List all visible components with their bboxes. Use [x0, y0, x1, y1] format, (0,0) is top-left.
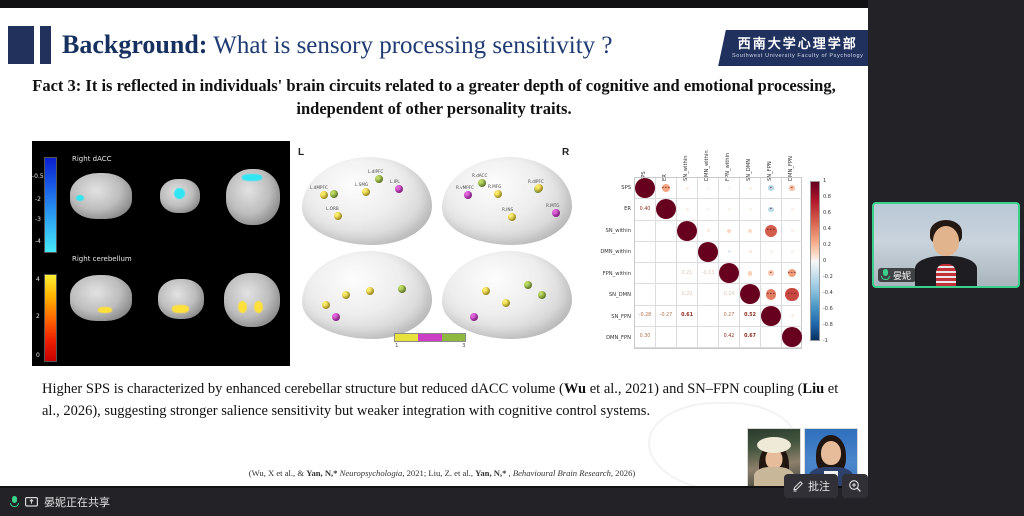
slide-title-bold: Background:: [62, 30, 207, 59]
colorbar-tick: 0: [823, 258, 826, 264]
colorbar-pos-tick-1: 2: [36, 313, 40, 320]
matrix-cell: [677, 199, 698, 220]
matrix-dot: [686, 208, 689, 211]
matrix-dot: [748, 271, 753, 276]
matrix-cell: [761, 327, 782, 348]
colorbar-pos-tick-0: 4: [36, 276, 40, 283]
matrix-cell: [635, 263, 656, 284]
mri-slice-axial-2: [224, 273, 280, 327]
caption-cite-wu: Wu: [564, 381, 586, 397]
matrix-cell: 0.21: [677, 263, 698, 284]
matrix-value: 0.24: [724, 292, 735, 297]
correlation-colorbar: [810, 181, 820, 341]
screen-share-icon: [25, 497, 38, 508]
matrix-cell: [635, 284, 656, 305]
magnifier-plus-icon: [848, 479, 862, 493]
matrix-dot: [707, 187, 710, 190]
matrix-cell: [761, 242, 782, 263]
node-label-r-5: R.dlPFC: [528, 179, 544, 184]
matrix-cell: [719, 221, 740, 242]
matrix-value: 0.61: [681, 313, 693, 318]
node-label-r-3: R.MFG: [488, 184, 501, 189]
matrix-row-label: ER: [594, 206, 631, 212]
matrix-row-label: SN_within: [594, 228, 631, 234]
matrix-cell: [740, 284, 761, 305]
matrix-dot: •: [768, 207, 773, 212]
matrix-dot: [656, 199, 676, 219]
matrix-cell: [698, 178, 719, 199]
matrix-cell: [719, 199, 740, 220]
university-logo: 西南大学心理学部 Southwest University Faculty of…: [718, 30, 868, 66]
network-legend-bar: [394, 333, 466, 342]
slide-caption: Higher SPS is characterized by enhanced …: [42, 378, 842, 422]
bottom-toolbar: 晏妮正在共享 批注: [0, 488, 1024, 516]
matrix-dot: [728, 250, 731, 253]
matrix-cell: [656, 221, 677, 242]
matrix-cell: •••: [782, 284, 802, 305]
matrix-cell: [677, 327, 698, 348]
matrix-dot: [749, 250, 752, 253]
node-label-l-2: L.dlPFC: [368, 169, 383, 174]
matrix-dot: [791, 314, 794, 317]
slide-title: Background: What is sensory processing s…: [62, 27, 613, 65]
mri-slice-axial-1: [226, 169, 280, 225]
matrix-dot: [791, 250, 794, 253]
matrix-value: 0.21: [682, 271, 693, 276]
matrix-row-label: FPN_within: [594, 271, 631, 277]
matrix-cell: 0.24: [719, 284, 740, 305]
matrix-dot: [728, 208, 731, 211]
matrix-row-label: DMN_FPN: [594, 335, 631, 341]
matrix-row-label: SPS: [594, 185, 631, 191]
brain-surface-medial-right: [442, 251, 572, 339]
matrix-cell: •: [782, 178, 802, 199]
annotate-button[interactable]: 批注: [784, 474, 838, 498]
matrix-cell: 0.30: [635, 327, 656, 348]
matrix-cell: •••: [761, 221, 782, 242]
matrix-cell: 0.42: [719, 327, 740, 348]
node-label-l-5: L.ORB: [326, 206, 339, 211]
matrix-dot: [719, 263, 739, 283]
colorbar-positive: [44, 274, 57, 362]
node-label-l-4: L.IPL: [390, 179, 400, 184]
matrix-dot: [791, 229, 794, 232]
video-tile-participant[interactable]: 晏妮: [872, 202, 1020, 288]
matrix-cell: •: [761, 263, 782, 284]
matrix-value: -0.13: [702, 271, 714, 276]
matrix-value: -0.28: [639, 313, 651, 318]
colorbar-tick: -0.4: [823, 290, 833, 296]
matrix-value: 0.67: [744, 334, 756, 339]
video-participant-name: 晏妮: [893, 269, 911, 282]
figure-panel-correlation-matrix: SPSERSN_withinDMN_withinFPN_withinSN_DMN…: [594, 139, 852, 368]
brain-surface-medial-left: [302, 251, 432, 339]
matrix-cell: [698, 284, 719, 305]
matrix-cell: [698, 221, 719, 242]
matrix-cell: •: [761, 178, 782, 199]
matrix-cell: •: [761, 199, 782, 220]
matrix-cell: [656, 263, 677, 284]
matrix-dot: [748, 229, 752, 233]
node-label-r-2: R.dACC: [472, 173, 487, 178]
matrix-dot: [727, 229, 731, 233]
colorbar-tick: 0.4: [823, 226, 831, 232]
node-label-r-1: R.vMPFC: [456, 185, 474, 190]
matrix-cell: [740, 178, 761, 199]
colorbar-neg-tick-1: -2: [35, 196, 41, 203]
matrix-cell: -0.13: [698, 263, 719, 284]
matrix-value: 0.27: [724, 313, 735, 318]
matrix-cell: [782, 327, 802, 348]
video-shirt: [936, 264, 956, 286]
matrix-dot: •••: [765, 225, 777, 237]
hemisphere-label-right: R: [562, 147, 569, 158]
matrix-dot: [707, 208, 710, 211]
app-window: Background: What is sensory processing s…: [0, 0, 1024, 516]
matrix-dot: [761, 306, 781, 326]
matrix-dot: [749, 187, 752, 190]
matrix-dot: [677, 221, 697, 241]
matrix-dot: [698, 242, 718, 262]
matrix-dot: [740, 284, 760, 304]
matrix-row-label: SN_FPN: [594, 314, 631, 320]
matrix-cell: •••: [782, 263, 802, 284]
correlation-matrix-grid: •••••0.40••••0.21-0.13••••0.200.24••••••…: [634, 177, 802, 349]
matrix-cell: [677, 221, 698, 242]
matrix-dot: •: [789, 185, 795, 191]
matrix-cell: [656, 327, 677, 348]
header-accent-bar-wide: [8, 26, 34, 64]
mri-slice-coronal-1: [160, 179, 200, 213]
slide-header: Background: What is sensory processing s…: [0, 20, 868, 68]
matrix-cell: [782, 221, 802, 242]
colorbar-tick: -0.8: [823, 322, 833, 328]
brain-surface-lateral-left: L.dMPFC L.dlPFC L.SMG L.IPL L.ORB: [302, 157, 432, 245]
matrix-dot: •••: [785, 288, 798, 301]
matrix-cell: -0.27: [656, 306, 677, 327]
matrix-cell: 0.67: [740, 327, 761, 348]
mri-slice-sagittal-2: [70, 275, 132, 321]
matrix-cell: [740, 199, 761, 220]
matrix-cell: [719, 263, 740, 284]
matrix-cell: [656, 242, 677, 263]
node-label-l-1: L.dMPFC: [310, 185, 328, 190]
colorbar-tick: 0.2: [823, 242, 831, 248]
annotate-label: 批注: [808, 478, 830, 494]
node-label-r-6: R.MTG: [546, 203, 560, 208]
matrix-cell: [761, 306, 782, 327]
matrix-cell: [698, 306, 719, 327]
matrix-cell: [656, 199, 677, 220]
matrix-value: 0.42: [724, 334, 735, 339]
matrix-cell: [719, 242, 740, 263]
matrix-dot: [791, 208, 794, 211]
matrix-cell: -0.28: [635, 306, 656, 327]
matrix-cell: [635, 242, 656, 263]
matrix-cell: [740, 242, 761, 263]
logo-chinese-text: 西南大学心理学部: [723, 33, 868, 52]
microphone-icon: [881, 269, 890, 282]
matrix-cell: [782, 199, 802, 220]
matrix-value: -0.27: [660, 313, 672, 318]
mri-label-dacc: Right dACC: [72, 155, 112, 163]
colorbar-neg-tick-0: -0.5: [32, 173, 44, 180]
header-accent-bar-narrow: [40, 26, 51, 64]
matrix-dot: •••: [788, 269, 796, 277]
microphone-status-icon[interactable]: [10, 496, 19, 509]
matrix-cell: 0.27: [719, 306, 740, 327]
matrix-dot: [728, 187, 731, 190]
logo-english-text: Southwest University Faculty of Psycholo…: [723, 53, 868, 59]
brain-surface-lateral-right: R.vMPFC R.dACC R.MFG R.INS R.dlPFC R.MTG: [442, 157, 572, 245]
matrix-cell: 0.52: [740, 306, 761, 327]
matrix-cell: 0.40: [635, 199, 656, 220]
caption-cite-liu: Liu: [802, 381, 824, 397]
matrix-cell: [635, 178, 656, 199]
matrix-dot: [770, 250, 773, 253]
matrix-row-label: DMN_within: [594, 249, 631, 255]
matrix-dot: [782, 327, 802, 347]
matrix-cell: [782, 242, 802, 263]
colorbar-tick: 1: [823, 178, 826, 184]
video-name-badge: 晏妮: [878, 268, 916, 282]
matrix-dot: •: [768, 270, 773, 275]
matrix-cell: [740, 221, 761, 242]
matrix-dot: •••: [766, 289, 776, 299]
zoom-button[interactable]: [842, 474, 868, 498]
colorbar-pos-tick-2: 0: [36, 352, 40, 359]
legend-tick-max: 3: [462, 343, 466, 349]
fact-statement: Fact 3: It is reflected in individuals' …: [20, 74, 848, 121]
node-label-r-4: R.INS: [502, 207, 513, 212]
matrix-dot: [686, 187, 689, 190]
colorbar-neg-tick-2: -3: [35, 216, 41, 223]
colorbar-neg-tick-3: -4: [35, 238, 41, 245]
matrix-dot: •: [768, 185, 774, 191]
shared-screen-area[interactable]: Background: What is sensory processing s…: [0, 0, 868, 488]
slide-citation: (Wu, X et al., & Yan, N,* Neuropsycholog…: [42, 468, 842, 478]
colorbar-tick: -0.2: [823, 274, 833, 280]
matrix-cell: •••: [656, 178, 677, 199]
matrix-row-label: SN_DMN: [594, 292, 631, 298]
figure-panel-mri: -0.5 -2 -3 -4 4 2 0 Right dACC Right cer…: [32, 141, 290, 366]
share-controls-group: 批注: [784, 474, 868, 498]
matrix-cell: [698, 327, 719, 348]
colorbar-tick: 0.8: [823, 194, 831, 200]
presentation-slide: Background: What is sensory processing s…: [0, 8, 868, 486]
matrix-cell: [698, 242, 719, 263]
colorbar-tick: -1: [823, 338, 828, 344]
mri-slice-sagittal-1: [70, 173, 132, 219]
matrix-cell: 0.61: [677, 306, 698, 327]
matrix-cell: [719, 178, 740, 199]
matrix-dot: [635, 178, 655, 198]
matrix-cell: [782, 306, 802, 327]
mri-slice-coronal-2: [158, 279, 204, 319]
matrix-value: 0.30: [640, 334, 651, 339]
hemisphere-label-left: L: [298, 147, 304, 158]
matrix-dot: [749, 208, 752, 211]
legend-tick-min: 1: [395, 343, 399, 349]
participant-video-column: 晏妮: [868, 0, 1024, 488]
node-label-l-3: L.SMG: [355, 182, 368, 187]
matrix-value: 0.40: [640, 207, 651, 212]
colorbar-negative: [44, 157, 57, 253]
figure-strip: -0.5 -2 -3 -4 4 2 0 Right dACC Right cer…: [32, 139, 852, 368]
matrix-cell: [677, 178, 698, 199]
matrix-cell: •••: [761, 284, 782, 305]
sharing-status-group: 晏妮正在共享: [0, 494, 110, 510]
matrix-cell: 0.20: [677, 284, 698, 305]
colorbar-tick: -0.6: [823, 306, 833, 312]
pen-icon: [792, 480, 804, 492]
figure-panel-surface: L R L.dMPFC L.dlPFC L.SMG L.IPL L.ORB: [294, 139, 578, 368]
header-divider: [0, 66, 868, 68]
matrix-cell: [740, 263, 761, 284]
matrix-dot: •••: [662, 184, 670, 192]
sharing-status-text: 晏妮正在共享: [44, 494, 110, 510]
matrix-cell: [656, 284, 677, 305]
matrix-value: 0.52: [744, 313, 756, 318]
matrix-cell: [635, 221, 656, 242]
matrix-value: 0.20: [682, 292, 693, 297]
matrix-cell: [698, 199, 719, 220]
matrix-cell: [677, 242, 698, 263]
video-face: [933, 226, 959, 256]
matrix-dot: [707, 229, 710, 232]
colorbar-tick: 0.6: [823, 210, 831, 216]
mri-label-cerebellum: Right cerebellum: [72, 255, 132, 263]
slide-title-rest: What is sensory processing sensitivity ?: [207, 32, 612, 59]
